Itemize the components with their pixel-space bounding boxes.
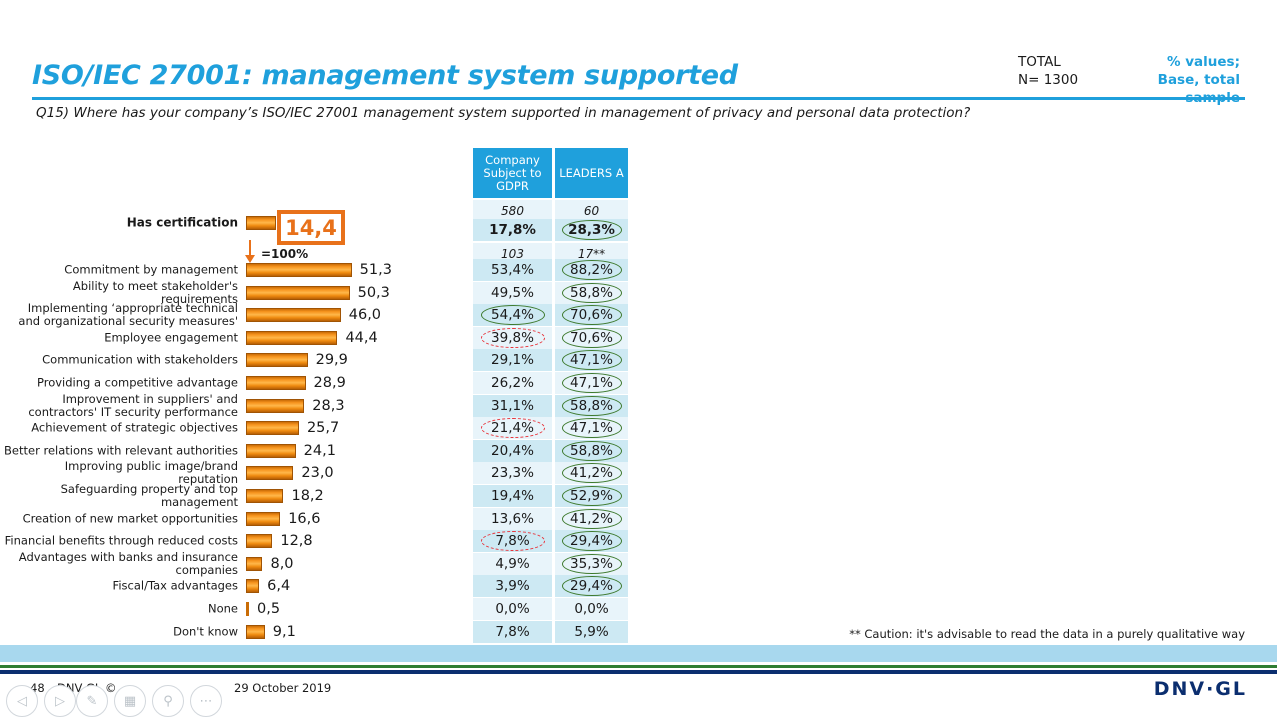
bar-row-label: Communication with stakeholders <box>3 354 238 367</box>
bar-value-label: 6,4 <box>267 578 290 594</box>
bar-row-label: Financial benefits through reduced costs <box>3 535 238 548</box>
table-cell-r0-c0: 53,4% <box>473 259 552 281</box>
bar-row-item-16: Don't know9,1 <box>0 621 470 643</box>
table-header-leaders-a: LEADERS A <box>555 148 628 198</box>
table-cell-value: 70,6% <box>570 307 613 323</box>
table-cell-value: 7,8% <box>495 533 529 549</box>
table-cell-value: 20,4% <box>491 443 534 459</box>
callout-arrow-head <box>245 255 255 263</box>
table-cell-value: 4,9% <box>495 556 529 572</box>
bar-value-label: 12,8 <box>280 533 312 549</box>
table-cell-r14-c1: 29,4% <box>555 575 628 597</box>
bar-row-label: Creation of new market opportunities <box>3 512 238 525</box>
bar-value-label: 46,0 <box>349 307 381 323</box>
table-cell-value: 29,1% <box>491 352 534 368</box>
table-cell-value: 23,3% <box>491 465 534 481</box>
dnv-gl-logo: DNV·GL <box>1154 678 1247 700</box>
table-cell-value: 52,9% <box>570 488 613 504</box>
table-cell-r12-c1: 29,4% <box>555 530 628 552</box>
table-cell-r7-c0: 21,4% <box>473 417 552 439</box>
bar-row-label: Has certification <box>3 217 238 230</box>
bar-shape <box>246 444 296 458</box>
bar-shape <box>246 579 259 593</box>
table-cell-r4-c1: 47,1% <box>555 349 628 371</box>
table-cell-value: 28,3% <box>568 222 615 238</box>
bar-shape <box>246 331 337 345</box>
table-cell-value: 53,4% <box>491 262 534 278</box>
bar-shape <box>246 534 272 548</box>
bar-row-has-certification: Has certification <box>0 212 470 234</box>
table-cell-value: 41,2% <box>570 465 613 481</box>
bar-shape <box>246 263 352 277</box>
table-cell-cert-value-0: 17,8% <box>473 219 552 241</box>
table-cell-r6-c1: 58,8% <box>555 395 628 417</box>
bar-shape <box>246 512 280 526</box>
more-icon[interactable]: ⋯ <box>190 685 222 717</box>
caution-note: ** Caution: it's advisable to read the d… <box>849 627 1245 641</box>
table-cell-r3-c0: 39,8% <box>473 327 552 349</box>
table-cell-r4-c0: 29,1% <box>473 349 552 371</box>
table-cell-r9-c1: 41,2% <box>555 462 628 484</box>
bar-value-label: 24,1 <box>304 443 336 459</box>
table-cell-r8-c1: 58,8% <box>555 440 628 462</box>
table-cell-value: 5,9% <box>574 624 608 640</box>
table-cell-value: 29,4% <box>570 533 613 549</box>
table-cell-r15-c0: 0,0% <box>473 598 552 620</box>
bar-value-label: 16,6 <box>288 511 320 527</box>
bar-row-label: Employee engagement <box>3 331 238 344</box>
bar-row-item-11: Creation of new market opportunities16,6 <box>0 508 470 530</box>
bar-row-item-2: Implementing ‘appropriate technical and … <box>0 304 470 326</box>
table-cell-value: 47,1% <box>570 420 613 436</box>
table-cell-value: 35,3% <box>570 556 613 572</box>
bar-row-item-6: Improvement in suppliers' and contractor… <box>0 395 470 417</box>
table-cell-value: 19,4% <box>491 488 534 504</box>
bar-value-label: 28,9 <box>314 375 346 391</box>
total-block: TOTAL N= 1300 <box>1018 53 1078 89</box>
table-cell-r10-c1: 52,9% <box>555 485 628 507</box>
table-cell-value: 60 <box>584 204 599 218</box>
bar-row-label: Advantages with banks and insurance comp… <box>3 551 238 577</box>
bar-row-item-10: Safeguarding property and top management… <box>0 485 470 507</box>
table-cell-value: 29,4% <box>570 578 613 594</box>
table-cell-r5-c1: 47,1% <box>555 372 628 394</box>
n-label: N= 1300 <box>1018 71 1078 89</box>
table-cell-value: 54,4% <box>491 307 534 323</box>
table-cell-value: 47,1% <box>570 352 613 368</box>
bar-shape <box>246 466 293 480</box>
table-cell-r2-c0: 54,4% <box>473 304 552 326</box>
table-cell-r9-c0: 23,3% <box>473 462 552 484</box>
footer-band-blue <box>0 645 1277 662</box>
slide-date: 29 October 2019 <box>234 681 331 695</box>
table-cell-value: 26,2% <box>491 375 534 391</box>
bar-shape <box>246 286 350 300</box>
bar-chart: Has certificationCommitment by managemen… <box>0 0 470 660</box>
bar-row-label: Fiscal/Tax advantages <box>3 580 238 593</box>
forward-arrow-icon[interactable]: ▷ <box>44 685 76 717</box>
bar-shape <box>246 421 299 435</box>
bar-shape <box>246 376 306 390</box>
table-cell-r11-c1: 41,2% <box>555 508 628 530</box>
table-cell-r3-c1: 70,6% <box>555 327 628 349</box>
base-note-line1: % values; <box>1105 53 1240 71</box>
bar-row-label: Don't know <box>3 625 238 638</box>
table-cell-r13-c1: 35,3% <box>555 553 628 575</box>
base-note-line2: Base, total sample <box>1105 71 1240 107</box>
table-cell-r1-c0: 49,5% <box>473 282 552 304</box>
bar-row-label: Achievement of strategic objectives <box>3 422 238 435</box>
bar-value-label: 25,7 <box>307 420 339 436</box>
equals-100-note: =100% <box>261 247 308 261</box>
table-cell-r0-c1: 88,2% <box>555 259 628 281</box>
table-cell-r12-c0: 7,8% <box>473 530 552 552</box>
bar-shape <box>246 557 262 571</box>
bar-value-label: 8,0 <box>270 556 293 572</box>
bar-row-label: Improvement in suppliers' and contractor… <box>3 393 238 419</box>
bar-row-label: Commitment by management <box>3 264 238 277</box>
total-label: TOTAL <box>1018 53 1078 71</box>
bar-value-label: 44,4 <box>345 330 377 346</box>
table-cell-r15-c1: 0,0% <box>555 598 628 620</box>
bar-value-label: 0,5 <box>257 601 280 617</box>
table-cell-value: 21,4% <box>491 420 534 436</box>
table-cell-value: 88,2% <box>570 262 613 278</box>
bar-value-label: 51,3 <box>360 262 392 278</box>
pen-icon[interactable]: ✎ <box>76 685 108 717</box>
footer-band-navy <box>0 670 1277 674</box>
bar-shape <box>246 216 276 230</box>
table-cell-value: 49,5% <box>491 285 534 301</box>
table-cell-value: 70,6% <box>570 330 613 346</box>
table-cell-value: 58,8% <box>570 398 613 414</box>
table-cell-value: 7,8% <box>495 624 529 640</box>
table-cell-value: 580 <box>501 204 524 218</box>
certification-callout-value: 14,4 <box>281 214 341 241</box>
table-cell-r8-c0: 20,4% <box>473 440 552 462</box>
bar-shape <box>246 489 283 503</box>
slides-icon[interactable]: ▦ <box>114 685 146 717</box>
table-cell-value: 58,8% <box>570 285 613 301</box>
bar-shape <box>246 602 249 616</box>
table-cell-value: 0,0% <box>495 601 529 617</box>
table-cell-value: 47,1% <box>570 375 613 391</box>
table-cell-value: 17,8% <box>489 222 536 238</box>
table-cell-r11-c0: 13,6% <box>473 508 552 530</box>
table-cell-r16-c1: 5,9% <box>555 621 628 643</box>
bar-row-label: Implementing ‘appropriate technical and … <box>3 302 238 328</box>
table-cell-r5-c0: 26,2% <box>473 372 552 394</box>
back-arrow-icon[interactable]: ◁ <box>6 685 38 717</box>
table-cell-value: 0,0% <box>574 601 608 617</box>
bar-row-label: Safeguarding property and top management <box>3 483 238 509</box>
table-cell-r10-c0: 19,4% <box>473 485 552 507</box>
bar-row-label: None <box>3 603 238 616</box>
table-cell-r13-c0: 4,9% <box>473 553 552 575</box>
bar-value-label: 29,9 <box>316 352 348 368</box>
bar-shape <box>246 625 265 639</box>
bar-shape <box>246 399 304 413</box>
table-cell-value: 3,9% <box>495 578 529 594</box>
table-cell-value: 41,2% <box>570 511 613 527</box>
table-cell-r7-c1: 47,1% <box>555 417 628 439</box>
bar-row-item-3: Employee engagement44,4 <box>0 327 470 349</box>
bar-value-label: 28,3 <box>312 398 344 414</box>
bar-shape <box>246 353 308 367</box>
table-cell-r16-c0: 7,8% <box>473 621 552 643</box>
table-header-company-gdpr: Company Subject to GDPR <box>473 148 552 198</box>
bar-row-item-7: Achievement of strategic objectives25,7 <box>0 417 470 439</box>
table-cell-r1-c1: 58,8% <box>555 282 628 304</box>
bar-value-label: 50,3 <box>358 285 390 301</box>
table-cell-value: 13,6% <box>491 511 534 527</box>
table-cell-r2-c1: 70,6% <box>555 304 628 326</box>
table-cell-value: 31,1% <box>491 398 534 414</box>
bar-row-item-4: Communication with stakeholders29,9 <box>0 349 470 371</box>
search-icon[interactable]: ⚲ <box>152 685 184 717</box>
bar-shape <box>246 308 341 322</box>
table-cell-value: 58,8% <box>570 443 613 459</box>
bar-value-label: 9,1 <box>273 624 296 640</box>
bar-row-label: Providing a competitive advantage <box>3 377 238 390</box>
bar-value-label: 23,0 <box>301 465 333 481</box>
bar-row-label: Better relations with relevant authoriti… <box>3 444 238 457</box>
table-cell-r6-c0: 31,1% <box>473 395 552 417</box>
bar-row-item-13: Advantages with banks and insurance comp… <box>0 553 470 575</box>
bar-value-label: 18,2 <box>291 488 323 504</box>
table-cell-value: 39,8% <box>491 330 534 346</box>
bar-row-item-15: None0,5 <box>0 598 470 620</box>
table-cell-cert-value-1: 28,3% <box>555 219 628 241</box>
bar-row-item-14: Fiscal/Tax advantages6,4 <box>0 575 470 597</box>
certification-callout-box: 14,4 <box>277 210 345 245</box>
table-cell-r14-c0: 3,9% <box>473 575 552 597</box>
